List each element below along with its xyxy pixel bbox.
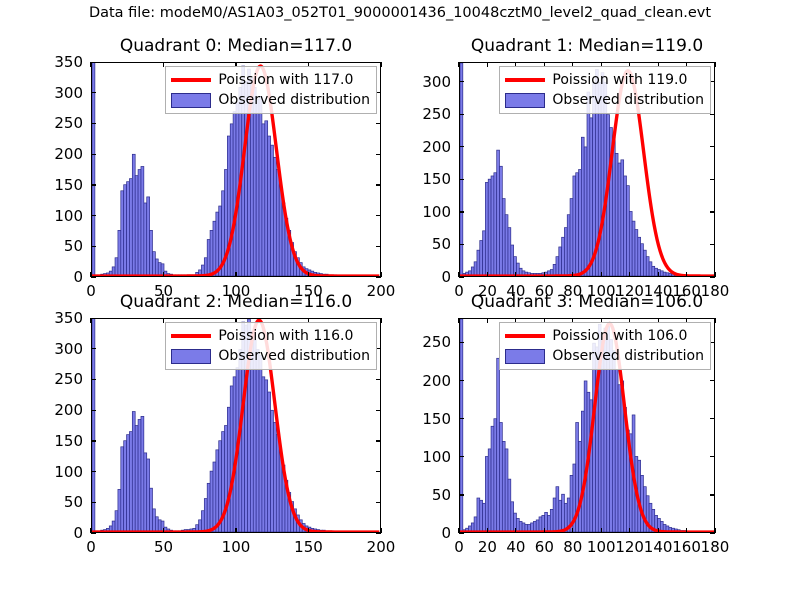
- x-tick-mark: [658, 272, 659, 277]
- legend-line-swatch-icon: [171, 329, 211, 343]
- x-tick-mark: [235, 528, 236, 533]
- x-tick-mark: [629, 528, 630, 533]
- legend-quadrant-3[interactable]: Poission with 106.0Observed distribution: [499, 322, 711, 370]
- subplot-title-quadrant-3: Quadrant 3: Median=106.0: [459, 292, 715, 312]
- y-tick-label: 150: [37, 176, 83, 194]
- x-tick-mark-top: [163, 62, 164, 67]
- y-tick-mark: [91, 92, 96, 93]
- x-tick-mark: [308, 528, 309, 533]
- y-tick-mark: [459, 179, 464, 180]
- legend-label: Observed distribution: [552, 92, 704, 108]
- y-tick-mark: [91, 410, 96, 411]
- x-tick-mark-top: [487, 318, 488, 323]
- subplot-title-quadrant-0: Quadrant 0: Median=117.0: [91, 36, 381, 56]
- y-tick-label: 50: [37, 237, 83, 255]
- x-tick-mark: [308, 272, 309, 277]
- x-tick-mark: [515, 272, 516, 277]
- x-tick-label: 120: [615, 538, 644, 556]
- legend-item-observed[interactable]: Observed distribution: [171, 346, 370, 366]
- y-tick-mark-right: [710, 179, 715, 180]
- y-tick-mark: [91, 379, 96, 380]
- y-tick-label: 200: [37, 401, 83, 419]
- x-tick-label: 20: [478, 538, 497, 556]
- x-tick-mark: [380, 272, 381, 277]
- y-tick-mark-right: [376, 379, 381, 380]
- y-tick-mark: [459, 81, 464, 82]
- legend-patch-swatch-icon: [505, 349, 545, 364]
- legend-label: Observed distribution: [218, 348, 370, 364]
- x-tick-mark: [515, 528, 516, 533]
- y-tick-label: 50: [405, 486, 451, 504]
- y-tick-label: 200: [405, 372, 451, 390]
- x-tick-mark-top: [380, 62, 381, 67]
- legend-patch-swatch-icon: [505, 93, 545, 108]
- y-tick-mark: [459, 533, 464, 534]
- y-tick-label: 0: [405, 524, 451, 542]
- y-tick-mark-right: [710, 244, 715, 245]
- y-tick-mark: [91, 440, 96, 441]
- legend-label: Poission with 106.0: [552, 328, 687, 344]
- y-tick-mark-right: [710, 418, 715, 419]
- x-tick-mark: [572, 272, 573, 277]
- y-tick-label: 100: [405, 203, 451, 221]
- legend-line-swatch-icon: [505, 73, 545, 87]
- y-tick-mark-right: [710, 494, 715, 495]
- x-tick-label: 200: [367, 538, 396, 556]
- y-tick-mark: [459, 494, 464, 495]
- y-tick-label: 250: [405, 333, 451, 351]
- subplot-quadrant-2: Quadrant 2: Median=116.00501001502002503…: [91, 318, 381, 533]
- legend-quadrant-2[interactable]: Poission with 116.0Observed distribution: [165, 322, 377, 370]
- subplot-title-quadrant-1: Quadrant 1: Median=119.0: [459, 36, 715, 56]
- x-tick-mark: [686, 272, 687, 277]
- x-tick-mark-top: [487, 62, 488, 67]
- x-tick-mark: [714, 272, 715, 277]
- y-tick-mark: [91, 348, 96, 349]
- y-tick-label: 200: [37, 145, 83, 163]
- y-tick-label: 0: [37, 524, 83, 542]
- y-tick-mark: [91, 277, 96, 278]
- x-tick-mark: [90, 272, 91, 277]
- y-tick-label: 0: [405, 268, 451, 286]
- x-tick-mark: [487, 528, 488, 533]
- legend-quadrant-1[interactable]: Poission with 119.0Observed distribution: [499, 66, 711, 114]
- y-tick-mark: [91, 215, 96, 216]
- y-tick-mark-right: [376, 154, 381, 155]
- x-tick-mark-top: [714, 318, 715, 323]
- legend-label: Poission with 119.0: [552, 72, 687, 88]
- x-tick-mark: [629, 272, 630, 277]
- y-tick-mark: [459, 114, 464, 115]
- y-tick-mark: [91, 246, 96, 247]
- y-tick-mark-right: [710, 380, 715, 381]
- x-tick-label: 40: [506, 538, 525, 556]
- x-tick-mark-top: [458, 62, 459, 67]
- x-tick-label: 80: [563, 538, 582, 556]
- x-tick-mark: [544, 272, 545, 277]
- y-tick-mark: [91, 184, 96, 185]
- y-tick-mark: [459, 380, 464, 381]
- y-tick-mark: [459, 418, 464, 419]
- y-tick-mark: [91, 62, 96, 63]
- y-tick-label: 100: [405, 448, 451, 466]
- legend-patch-swatch-icon: [171, 93, 211, 108]
- y-tick-mark-right: [376, 123, 381, 124]
- x-tick-mark-top: [458, 318, 459, 323]
- x-tick-label: 0: [454, 538, 464, 556]
- x-tick-mark: [163, 272, 164, 277]
- legend-line-swatch-icon: [505, 329, 545, 343]
- legend-item-observed[interactable]: Observed distribution: [505, 346, 704, 366]
- y-tick-mark: [91, 533, 96, 534]
- legend-label: Poission with 117.0: [218, 72, 353, 88]
- y-tick-mark-right: [376, 184, 381, 185]
- x-tick-mark: [487, 272, 488, 277]
- y-tick-label: 300: [405, 73, 451, 91]
- legend-patch-swatch-icon: [171, 349, 211, 364]
- y-tick-mark: [91, 502, 96, 503]
- figure-suptitle: Data file: modeM0/AS1A03_052T01_90000014…: [0, 5, 800, 21]
- y-tick-label: 100: [37, 463, 83, 481]
- y-tick-mark: [459, 277, 464, 278]
- y-tick-mark-right: [376, 440, 381, 441]
- x-tick-mark: [544, 528, 545, 533]
- y-tick-label: 150: [405, 170, 451, 188]
- y-tick-label: 150: [37, 432, 83, 450]
- y-tick-mark-right: [710, 456, 715, 457]
- y-tick-mark-right: [376, 246, 381, 247]
- y-tick-label: 350: [37, 309, 83, 327]
- subplot-title-quadrant-2: Quadrant 2: Median=116.0: [91, 292, 381, 312]
- y-tick-label: 250: [37, 114, 83, 132]
- x-tick-mark-top: [90, 62, 91, 67]
- y-tick-mark: [91, 123, 96, 124]
- x-tick-mark: [658, 528, 659, 533]
- x-tick-mark-top: [380, 318, 381, 323]
- y-tick-mark-right: [710, 146, 715, 147]
- subplot-quadrant-1: Quadrant 1: Median=119.00501001502002503…: [459, 62, 715, 277]
- legend-label: Observed distribution: [552, 348, 704, 364]
- x-tick-mark: [686, 528, 687, 533]
- y-tick-mark: [459, 244, 464, 245]
- legend-item-poisson[interactable]: Poission with 119.0: [505, 70, 704, 90]
- legend-item-poisson[interactable]: Poission with 116.0: [171, 326, 370, 346]
- y-tick-mark-right: [376, 215, 381, 216]
- x-tick-mark: [458, 528, 459, 533]
- x-tick-mark: [235, 272, 236, 277]
- y-tick-label: 100: [37, 207, 83, 225]
- x-tick-mark: [458, 272, 459, 277]
- y-tick-label: 300: [37, 84, 83, 102]
- y-tick-label: 50: [405, 235, 451, 253]
- x-tick-label: 100: [587, 538, 616, 556]
- x-tick-label: 100: [222, 538, 251, 556]
- x-tick-label: 140: [644, 538, 673, 556]
- x-tick-mark: [714, 528, 715, 533]
- x-tick-mark: [601, 528, 602, 533]
- x-tick-label: 50: [154, 538, 173, 556]
- y-tick-label: 200: [405, 138, 451, 156]
- y-tick-mark: [459, 456, 464, 457]
- legend-item-poisson[interactable]: Poission with 106.0: [505, 326, 704, 346]
- y-tick-label: 0: [37, 268, 83, 286]
- x-tick-mark: [163, 528, 164, 533]
- x-tick-mark: [572, 528, 573, 533]
- x-tick-label: 0: [86, 538, 96, 556]
- subplot-quadrant-3: Quadrant 3: Median=106.00501001502002500…: [459, 318, 715, 533]
- y-tick-mark: [459, 342, 464, 343]
- y-tick-mark: [91, 471, 96, 472]
- y-tick-label: 250: [37, 370, 83, 388]
- x-tick-label: 180: [701, 538, 730, 556]
- legend-item-observed[interactable]: Observed distribution: [505, 90, 704, 110]
- x-tick-label: 160: [672, 538, 701, 556]
- x-tick-mark: [90, 528, 91, 533]
- y-tick-mark-right: [376, 471, 381, 472]
- matplotlib-figure: Data file: modeM0/AS1A03_052T01_90000014…: [0, 0, 800, 600]
- legend-label: Observed distribution: [218, 92, 370, 108]
- y-tick-label: 250: [405, 105, 451, 123]
- x-tick-mark-top: [90, 318, 91, 323]
- x-tick-mark: [380, 528, 381, 533]
- y-tick-mark: [91, 154, 96, 155]
- legend-quadrant-0[interactable]: Poission with 117.0Observed distribution: [165, 66, 377, 114]
- y-tick-label: 150: [405, 410, 451, 428]
- y-tick-label: 50: [37, 493, 83, 511]
- legend-line-swatch-icon: [171, 73, 211, 87]
- y-tick-mark-right: [376, 410, 381, 411]
- y-tick-label: 300: [37, 340, 83, 358]
- legend-label: Poission with 116.0: [218, 328, 353, 344]
- y-tick-mark-right: [710, 211, 715, 212]
- legend-item-poisson[interactable]: Poission with 117.0: [171, 70, 370, 90]
- x-tick-label: 150: [294, 538, 323, 556]
- subplot-quadrant-0: Quadrant 0: Median=117.00501001502002503…: [91, 62, 381, 277]
- y-tick-label: 350: [37, 53, 83, 71]
- y-tick-mark: [459, 146, 464, 147]
- y-tick-mark: [459, 211, 464, 212]
- x-tick-mark: [601, 272, 602, 277]
- y-tick-mark: [91, 318, 96, 319]
- x-tick-label: 60: [535, 538, 554, 556]
- legend-item-observed[interactable]: Observed distribution: [171, 90, 370, 110]
- x-tick-mark-top: [714, 62, 715, 67]
- x-tick-mark-top: [163, 318, 164, 323]
- y-tick-mark-right: [376, 502, 381, 503]
